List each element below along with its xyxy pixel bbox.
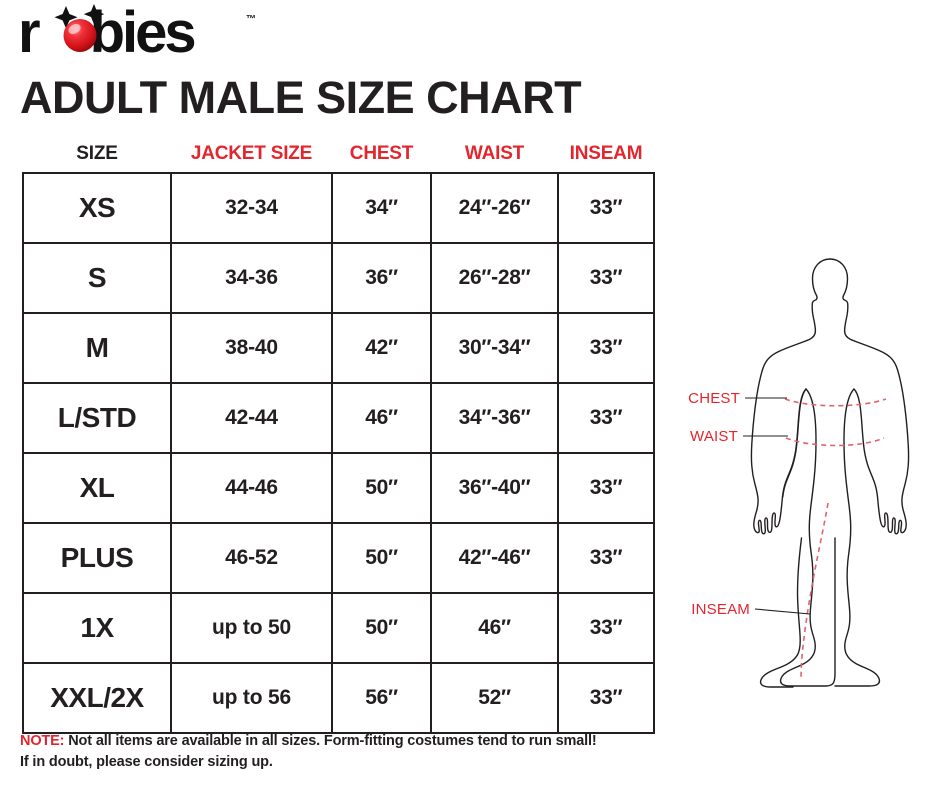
inseam-label: INSEAM	[691, 601, 750, 618]
cell-inseam: 33″	[558, 523, 654, 593]
cell-waist: 34″-36″	[431, 383, 558, 453]
column-header-chest: CHEST	[332, 143, 431, 173]
cell-waist: 26″-28″	[431, 243, 558, 313]
note-label: NOTE:	[20, 733, 64, 749]
column-header-waist: WAIST	[431, 143, 558, 173]
figure-left-arm-joint	[783, 389, 806, 497]
table-row: XS 32-34 34″ 24″-26″ 33″	[23, 173, 654, 243]
figure-inner-right-leg	[835, 389, 879, 686]
cell-size: XXL/2X	[23, 663, 171, 733]
cell-jacket: 42-44	[171, 383, 332, 453]
cell-inseam: 33″	[558, 453, 654, 523]
cell-jacket: 38-40	[171, 313, 332, 383]
waist-label: WAIST	[690, 428, 738, 445]
waist-measure-line	[786, 438, 884, 446]
cell-chest: 34″	[332, 173, 431, 243]
cell-size: XL	[23, 453, 171, 523]
cell-chest: 50″	[332, 593, 431, 663]
cell-chest: 42″	[332, 313, 431, 383]
cell-chest: 50″	[332, 523, 431, 593]
ruby-sphere-icon	[64, 19, 97, 52]
table-row: S 34-36 36″ 26″-28″ 33″	[23, 243, 654, 313]
table-row: 1X up to 50 50″ 46″ 33″	[23, 593, 654, 663]
figure-left-outline	[751, 259, 830, 534]
cell-waist: 42″-46″	[431, 523, 558, 593]
male-body-silhouette-icon	[751, 259, 908, 687]
cell-inseam: 33″	[558, 663, 654, 733]
cell-waist: 30″-34″	[431, 313, 558, 383]
cell-jacket: up to 56	[171, 663, 332, 733]
table-row: XL 44-46 50″ 36″-40″ 33″	[23, 453, 654, 523]
cell-inseam: 33″	[558, 383, 654, 453]
cell-inseam: 33″	[558, 173, 654, 243]
size-chart-table: SIZE JACKET SIZE CHEST WAIST INSEAM XS 3…	[22, 143, 655, 734]
brand-logo: rbies ™	[18, 2, 288, 64]
cell-jacket: 32-34	[171, 173, 332, 243]
note-text: NOTE: Not all items are available in all…	[20, 731, 700, 773]
cell-waist: 24″-26″	[431, 173, 558, 243]
note-line-2: If in doubt, please consider sizing up.	[20, 754, 273, 770]
cell-chest: 36″	[332, 243, 431, 313]
page-title: ADULT MALE SIZE CHART	[20, 72, 581, 124]
table-row: PLUS 46-52 50″ 42″-46″ 33″	[23, 523, 654, 593]
column-header-size: SIZE	[23, 143, 171, 173]
column-header-inseam: INSEAM	[558, 143, 654, 173]
cell-waist: 52″	[431, 663, 558, 733]
inseam-leader-line	[755, 609, 810, 614]
trademark-symbol: ™	[246, 14, 256, 25]
cell-jacket: up to 50	[171, 593, 332, 663]
cell-waist: 36″-40″	[431, 453, 558, 523]
cell-size: PLUS	[23, 523, 171, 593]
figure-right-outline	[830, 259, 909, 534]
cell-chest: 56″	[332, 663, 431, 733]
chest-label: CHEST	[688, 390, 740, 407]
note-line-1: Not all items are available in all sizes…	[64, 733, 596, 749]
cell-jacket: 46-52	[171, 523, 332, 593]
table-row: L/STD 42-44 46″ 34″-36″ 33″	[23, 383, 654, 453]
cell-chest: 46″	[332, 383, 431, 453]
cell-inseam: 33″	[558, 593, 654, 663]
cell-size: 1X	[23, 593, 171, 663]
cell-jacket: 44-46	[171, 453, 332, 523]
logo-sphere-graphic	[18, 2, 288, 64]
cell-size: L/STD	[23, 383, 171, 453]
table-row: XXL/2X up to 56 56″ 52″ 33″	[23, 663, 654, 733]
cell-waist: 46″	[431, 593, 558, 663]
table-row: M 38-40 42″ 30″-34″ 33″	[23, 313, 654, 383]
column-header-jacket: JACKET SIZE	[171, 143, 332, 173]
cell-jacket: 34-36	[171, 243, 332, 313]
size-chart-table-wrapper: SIZE JACKET SIZE CHEST WAIST INSEAM XS 3…	[22, 143, 653, 734]
table-header-row: SIZE JACKET SIZE CHEST WAIST INSEAM	[23, 143, 654, 173]
cell-size: XS	[23, 173, 171, 243]
cell-chest: 50″	[332, 453, 431, 523]
cell-inseam: 33″	[558, 313, 654, 383]
cell-size: M	[23, 313, 171, 383]
cell-inseam: 33″	[558, 243, 654, 313]
figure-inner-left-leg	[781, 389, 835, 686]
body-measurement-diagram: CHEST WAIST INSEAM	[660, 238, 941, 728]
cell-size: S	[23, 243, 171, 313]
